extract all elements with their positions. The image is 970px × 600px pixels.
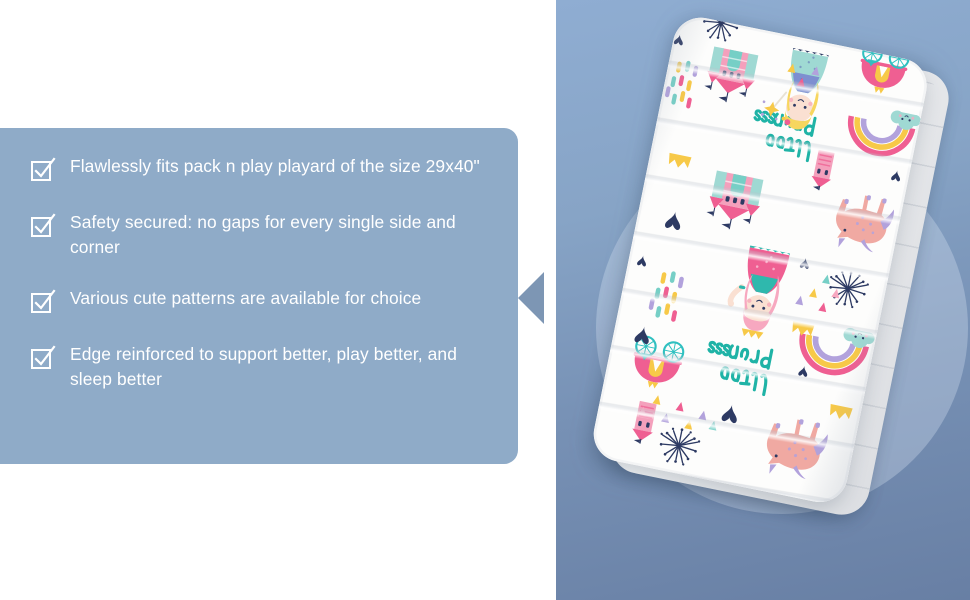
- list-item-label: Flawlessly fits pack n play playard of t…: [70, 154, 480, 179]
- list-item: Safety secured: no gaps for every single…: [30, 210, 500, 259]
- checkbox-checked-icon: [30, 289, 56, 315]
- list-item: Various cute patterns are available for …: [30, 286, 500, 315]
- product-image-panel: [556, 0, 970, 600]
- list-item-label: Safety secured: no gaps for every single…: [70, 210, 490, 259]
- list-item-label: Various cute patterns are available for …: [70, 286, 421, 311]
- checkbox-checked-icon: [30, 213, 56, 239]
- card-pointer-triangle-icon: [518, 272, 544, 324]
- list-item: Flawlessly fits pack n play playard of t…: [30, 154, 500, 183]
- checkbox-checked-icon: [30, 157, 56, 183]
- feature-card: Flawlessly fits pack n play playard of t…: [0, 128, 518, 464]
- product-feature-banner: Flawlessly fits pack n play playard of t…: [0, 0, 970, 600]
- list-item-label: Edge reinforced to support better, play …: [70, 342, 490, 391]
- playard-mattress-product: [565, 0, 970, 566]
- checkbox-checked-icon: [30, 345, 56, 371]
- feature-bullet-list: Flawlessly fits pack n play playard of t…: [30, 154, 500, 392]
- feature-text-panel: Flawlessly fits pack n play playard of t…: [0, 0, 556, 600]
- list-item: Edge reinforced to support better, play …: [30, 342, 500, 391]
